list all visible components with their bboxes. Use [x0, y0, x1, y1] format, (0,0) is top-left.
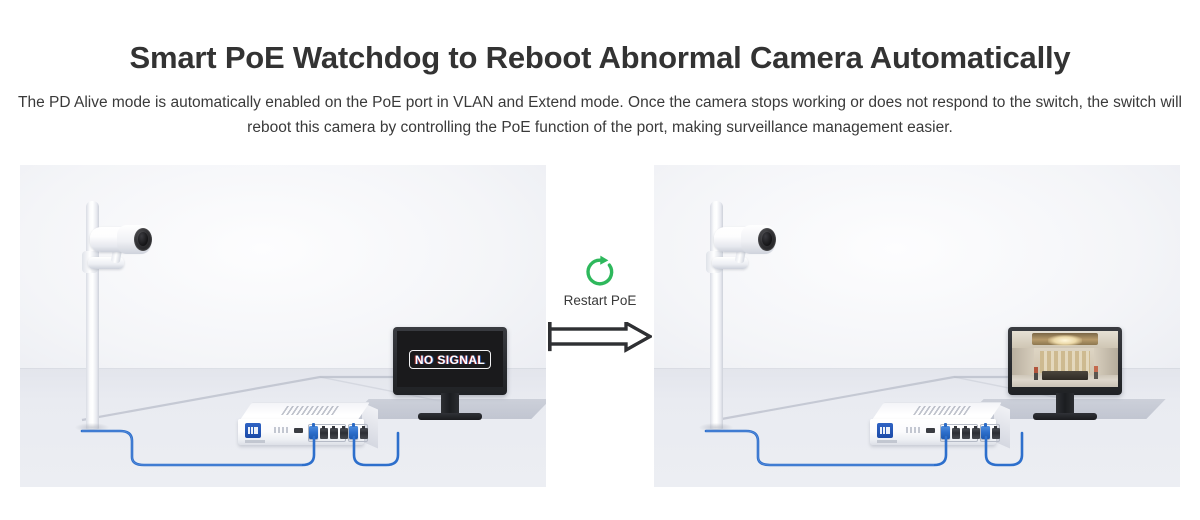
- page-title: Smart PoE Watchdog to Reboot Abnormal Ca…: [0, 40, 1200, 76]
- transition-indicator: Restart PoE: [546, 255, 654, 356]
- right-arrow-icon: [548, 322, 652, 356]
- page-root: Smart PoE Watchdog to Reboot Abnormal Ca…: [0, 0, 1200, 520]
- page-subtitle: The PD Alive mode is automatically enabl…: [16, 90, 1184, 140]
- refresh-icon[interactable]: [583, 255, 617, 289]
- restart-poe-label: Restart PoE: [546, 293, 654, 308]
- ethernet-cables: [20, 165, 546, 487]
- after-panel: [654, 165, 1180, 487]
- ethernet-cables: [654, 165, 1180, 487]
- before-panel: NO SIGNAL: [20, 165, 546, 487]
